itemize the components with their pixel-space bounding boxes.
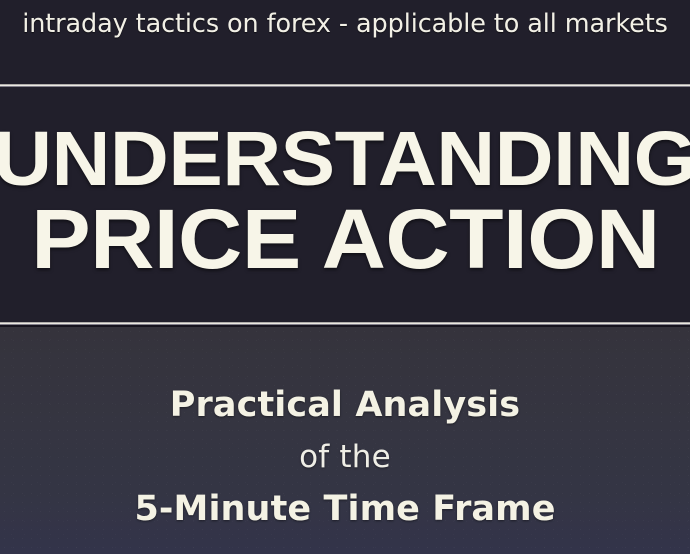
subtitle-time-frame: 5-Minute Time Frame [134,489,555,529]
subtitle-practical-analysis: Practical Analysis [170,385,520,425]
subtitle-of-the: of the [299,439,391,475]
subtitle-band: Practical Analysis of the 5-Minute Time … [0,327,690,554]
tagline-band: intraday tactics on forex - applicable t… [0,0,690,84]
tagline-text: intraday tactics on forex - applicable t… [22,9,668,39]
title-band: UNDERSTANDING PRICE ACTION [0,87,690,322]
title-line-understanding: UNDERSTANDING [0,122,690,197]
book-cover: intraday tactics on forex - applicable t… [0,0,690,554]
title-line-price-action: PRICE ACTION [31,199,659,280]
